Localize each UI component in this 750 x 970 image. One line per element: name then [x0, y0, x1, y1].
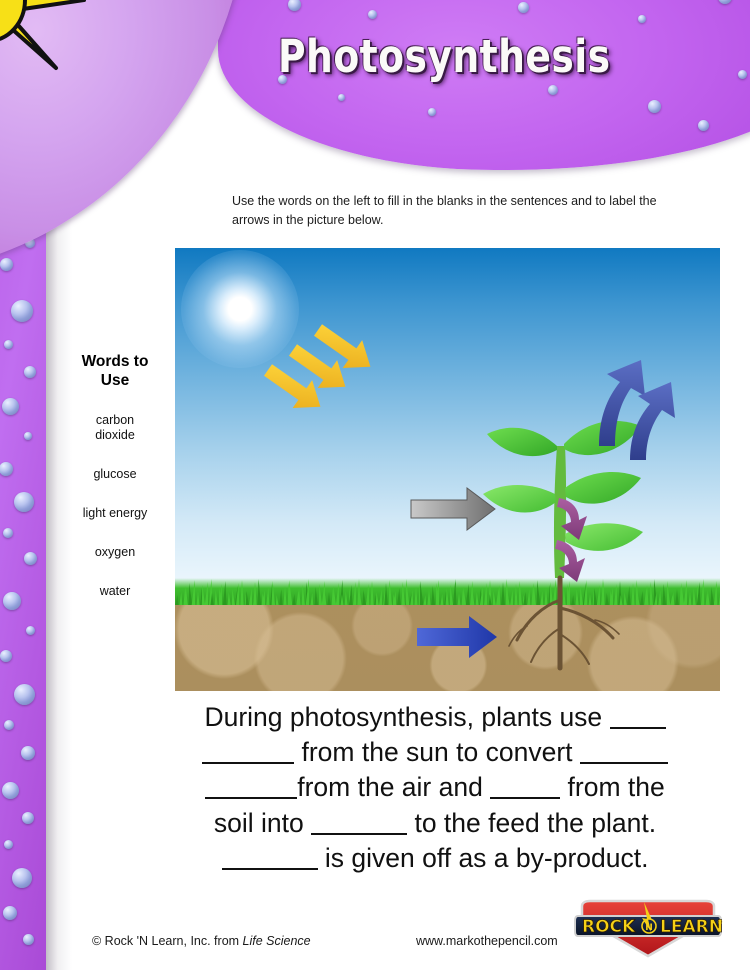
bubble-decoration	[11, 300, 33, 322]
bubble-decoration	[288, 0, 301, 11]
sentence-line: soil into to the feed the plant.	[170, 806, 700, 841]
credit-prefix: © Rock 'N Learn, Inc. from	[92, 934, 243, 948]
word-bank-item-line: glucose	[62, 467, 168, 482]
word-bank-item-line: dioxide	[62, 428, 168, 443]
oxygen-arrows	[599, 360, 675, 460]
rock-n-learn-logo[interactable]: ROCK LEARN N ®	[568, 898, 728, 960]
word-bank-item: water	[62, 584, 168, 599]
bubble-decoration	[718, 0, 732, 4]
sun-backdrop	[0, 0, 250, 275]
page-header: Photosynthesis	[0, 0, 750, 180]
sentence-line: During photosynthesis, plants use	[170, 700, 700, 735]
bubble-decoration	[638, 15, 646, 23]
copyright-credit: © Rock 'N Learn, Inc. from Life Science	[92, 934, 311, 948]
word-bank-title: Words to Use	[62, 352, 168, 391]
word-bank-item: oxygen	[62, 545, 168, 560]
answer-blank[interactable]	[222, 868, 318, 870]
word-bank: Words to Use carbondioxideglucoselight e…	[62, 352, 168, 623]
fill-in-sentence: During photosynthesis, plants use from t…	[170, 700, 700, 876]
page-title: Photosynthesis	[278, 30, 724, 83]
word-bank-item-line: oxygen	[62, 545, 168, 560]
word-bank-item-line: water	[62, 584, 168, 599]
sun-icon-svg	[0, 0, 88, 100]
bubble-decoration	[698, 120, 709, 131]
title-banner: Photosynthesis	[218, 0, 750, 170]
answer-blank[interactable]	[311, 833, 407, 835]
light-energy-arrows	[258, 316, 380, 421]
sentence-line: from the air and from the	[170, 770, 700, 805]
bubble-decoration	[14, 684, 35, 705]
bubble-decoration	[14, 492, 34, 512]
sentence-line: is given off as a by-product.	[170, 841, 700, 876]
water-arrow	[417, 616, 497, 658]
word-bank-item-line: carbon	[62, 413, 168, 428]
bubble-decoration	[21, 746, 35, 760]
page-footer: © Rock 'N Learn, Inc. from Life Science …	[0, 928, 750, 970]
bubble-decoration	[0, 650, 12, 662]
bubble-decoration	[428, 108, 436, 116]
bubble-decoration	[22, 812, 34, 824]
bubble-decoration	[4, 340, 13, 349]
bubble-decoration	[368, 10, 377, 19]
answer-blank[interactable]	[202, 762, 294, 764]
bubble-decoration	[548, 85, 558, 95]
logo-word-learn: LEARN	[660, 917, 723, 937]
worksheet-page: Photosynthesis	[0, 0, 750, 970]
logo-letter-n: N	[645, 923, 653, 933]
sentence-text: from the air and	[297, 772, 490, 802]
answer-blank[interactable]	[205, 797, 297, 799]
credit-book-title: Life Science	[243, 934, 311, 948]
word-bank-item: carbondioxide	[62, 413, 168, 443]
sentence-line: from the sun to convert	[170, 735, 700, 770]
bubble-decoration	[2, 782, 19, 799]
bubble-decoration	[3, 592, 21, 610]
word-bank-title-line1: Words to	[62, 352, 168, 371]
photosynthesis-diagram	[175, 248, 720, 691]
sentence-text: from the sun to convert	[294, 737, 580, 767]
bubble-decoration	[518, 2, 529, 13]
sun-icon	[0, 0, 88, 100]
bubble-decoration	[3, 906, 17, 920]
bubble-decoration	[0, 462, 13, 476]
answer-blank[interactable]	[580, 762, 668, 764]
website-url[interactable]: www.markothepencil.com	[416, 934, 558, 948]
rock-n-learn-logo-svg: ROCK LEARN N ®	[568, 898, 728, 960]
word-bank-title-line2: Use	[62, 371, 168, 390]
bubble-decoration	[4, 720, 14, 730]
answer-blank[interactable]	[610, 727, 666, 729]
bubble-decoration	[24, 432, 32, 440]
bubble-decoration	[2, 398, 19, 415]
bubble-decoration	[26, 626, 35, 635]
diagram-overlay	[175, 248, 720, 691]
bubble-decoration	[4, 840, 13, 849]
logo-registered-mark: ®	[717, 919, 723, 926]
logo-word-rock: ROCK	[582, 917, 636, 937]
bubble-decoration	[12, 868, 32, 888]
sentence-text: During photosynthesis, plants use	[204, 702, 609, 732]
carbon-dioxide-arrow	[411, 488, 495, 530]
bubble-decoration	[278, 75, 287, 84]
bubble-decoration	[648, 100, 661, 113]
bubble-decoration	[0, 258, 13, 271]
word-bank-item-line: light energy	[62, 506, 168, 521]
bubble-decoration	[738, 70, 747, 79]
sentence-text: to the feed the plant.	[407, 808, 656, 838]
sentence-text: soil into	[214, 808, 311, 838]
bubble-decoration	[24, 552, 37, 565]
bubble-decoration	[24, 366, 36, 378]
word-bank-list: carbondioxideglucoselight energyoxygenwa…	[62, 413, 168, 599]
bubble-decoration	[3, 528, 13, 538]
bubble-decoration	[338, 94, 345, 101]
sentence-text: from the	[560, 772, 665, 802]
word-bank-item: light energy	[62, 506, 168, 521]
word-bank-item: glucose	[62, 467, 168, 482]
answer-blank[interactable]	[490, 797, 560, 799]
sentence-text: is given off as a by-product.	[318, 843, 649, 873]
instructions-text: Use the words on the left to fill in the…	[232, 192, 692, 231]
